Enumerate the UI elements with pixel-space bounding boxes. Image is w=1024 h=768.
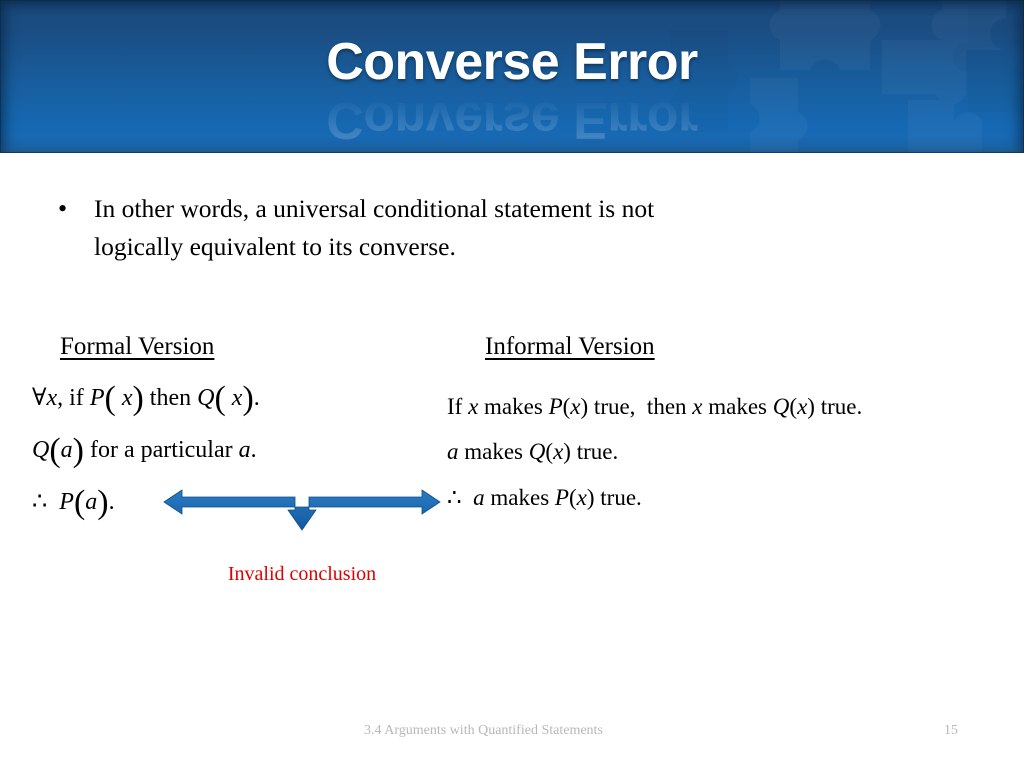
page-title: Converse Error: [0, 33, 1024, 91]
informal-premise-1-text: If x makes P(x) true, then x makes Q(x) …: [447, 394, 862, 419]
footer-section-note: 3.4 Arguments with Quantified Statements: [364, 722, 603, 740]
invalid-conclusion-caption: Invalid conclusion: [162, 561, 442, 587]
bullet-text: In other words, a universal conditional …: [94, 190, 698, 266]
invalid-conclusion-arrow-icon: [162, 482, 442, 538]
informal-premise-2-text: a makes Q(x) true.: [447, 439, 618, 464]
informal-version-heading: Informal Version: [485, 333, 655, 361]
banner-title-wrap: Converse Error Converse Error: [0, 0, 1024, 153]
formal-conclusion-text: ∴ P(a).: [32, 489, 115, 515]
list-item: • In other words, a universal conditiona…: [58, 190, 698, 266]
footer-page-number: 15: [944, 722, 958, 740]
informal-conclusion-text: ∴ a makes P(x) true.: [447, 485, 642, 510]
slide-title-banner: Converse Error Converse Error: [0, 0, 1024, 153]
informal-conclusion: ∴ a makes P(x) true.: [447, 483, 642, 513]
bullet-list: • In other words, a universal conditiona…: [58, 190, 698, 266]
informal-premise-2: a makes Q(x) true.: [447, 437, 618, 467]
formal-premise-2-text: Q(a) for a particular a.: [32, 437, 257, 463]
formal-version-heading: Formal Version: [60, 333, 214, 361]
bullet-marker-icon: •: [58, 190, 94, 228]
formal-premise-1: ∀x, if P( x) then Q( x).: [32, 383, 260, 413]
formal-premise-1-text: ∀x, if P( x) then Q( x).: [32, 385, 260, 411]
formal-conclusion: ∴ P(a).: [32, 487, 115, 517]
formal-premise-2: Q(a) for a particular a.: [32, 435, 257, 465]
page-title-reflection: Converse Error: [0, 91, 1024, 149]
informal-premise-1: If x makes P(x) true, then x makes Q(x) …: [447, 392, 862, 422]
